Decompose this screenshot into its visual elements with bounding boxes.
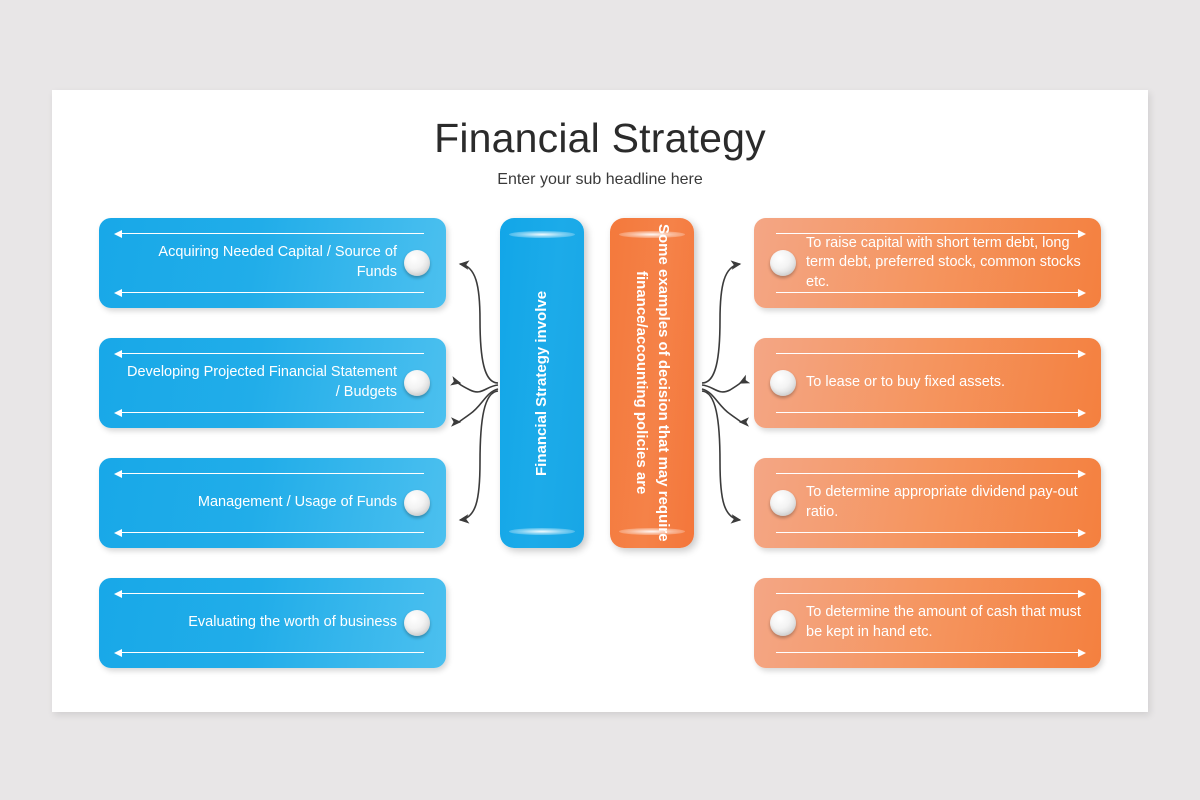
- center-pillar-right[interactable]: Some examples of decision that may requi…: [610, 218, 694, 548]
- arrow-head-right-icon: [1078, 529, 1086, 537]
- center-pillar-left[interactable]: Financial Strategy involve: [500, 218, 584, 548]
- sphere-knob-icon: [770, 610, 796, 636]
- left-item-label-1: Acquiring Needed Capital / Source of Fun…: [121, 218, 397, 308]
- page-title: Financial Strategy: [52, 115, 1148, 162]
- arrow-rule-bottom: [121, 292, 424, 293]
- left-item-label-2: Developing Projected Financial Statement…: [121, 338, 397, 428]
- arrow-rule-bottom: [776, 652, 1079, 653]
- arrow-head-left-icon: [114, 529, 122, 537]
- slide-stage: Financial Strategy Enter your sub headli…: [0, 0, 1200, 800]
- arrow-rule-bottom: [121, 532, 424, 533]
- arrow-head-right-icon: [1078, 649, 1086, 657]
- sphere-knob-icon: [404, 610, 430, 636]
- arrow-rule-bottom: [121, 652, 424, 653]
- arrow-head-right-icon: [1078, 409, 1086, 417]
- slide-card: Financial Strategy Enter your sub headli…: [52, 90, 1148, 712]
- sphere-knob-icon: [404, 490, 430, 516]
- left-item-box-4[interactable]: Evaluating the worth of business: [99, 578, 446, 668]
- left-item-label-4: Evaluating the worth of business: [121, 578, 397, 668]
- center-pillar-right-label: Some examples of decision that may requi…: [610, 218, 694, 548]
- left-item-box-1[interactable]: Acquiring Needed Capital / Source of Fun…: [99, 218, 446, 308]
- right-item-label-1: To raise capital with short term debt, l…: [806, 218, 1086, 308]
- arrow-rule-bottom: [121, 412, 424, 413]
- left-item-box-2[interactable]: Developing Projected Financial Statement…: [99, 338, 446, 428]
- gloss-highlight-bottom: [509, 528, 575, 535]
- arrow-head-right-icon: [1078, 289, 1086, 297]
- left-item-label-3: Management / Usage of Funds: [121, 458, 397, 548]
- arrow-head-left-icon: [114, 409, 122, 417]
- sphere-knob-icon: [770, 370, 796, 396]
- right-item-box-2[interactable]: To lease or to buy fixed assets.: [754, 338, 1101, 428]
- sphere-knob-icon: [404, 370, 430, 396]
- left-item-box-3[interactable]: Management / Usage of Funds: [99, 458, 446, 548]
- right-item-label-4: To determine the amount of cash that mus…: [806, 578, 1086, 668]
- right-item-box-1[interactable]: To raise capital with short term debt, l…: [754, 218, 1101, 308]
- arrow-rule-bottom: [776, 412, 1079, 413]
- right-item-box-3[interactable]: To determine appropriate dividend pay-ou…: [754, 458, 1101, 548]
- arrow-head-left-icon: [114, 649, 122, 657]
- right-item-box-4[interactable]: To determine the amount of cash that mus…: [754, 578, 1101, 668]
- sphere-knob-icon: [770, 490, 796, 516]
- right-item-label-2: To lease or to buy fixed assets.: [806, 338, 1086, 428]
- arrow-rule-bottom: [776, 532, 1079, 533]
- sphere-knob-icon: [404, 250, 430, 276]
- arrow-head-left-icon: [114, 289, 122, 297]
- sphere-knob-icon: [770, 250, 796, 276]
- right-item-label-3: To determine appropriate dividend pay-ou…: [806, 458, 1086, 548]
- gloss-highlight-bottom: [619, 528, 685, 535]
- arrow-rule-bottom: [776, 292, 1079, 293]
- page-subtitle: Enter your sub headline here: [52, 171, 1148, 189]
- center-pillar-left-label: Financial Strategy involve: [500, 218, 584, 548]
